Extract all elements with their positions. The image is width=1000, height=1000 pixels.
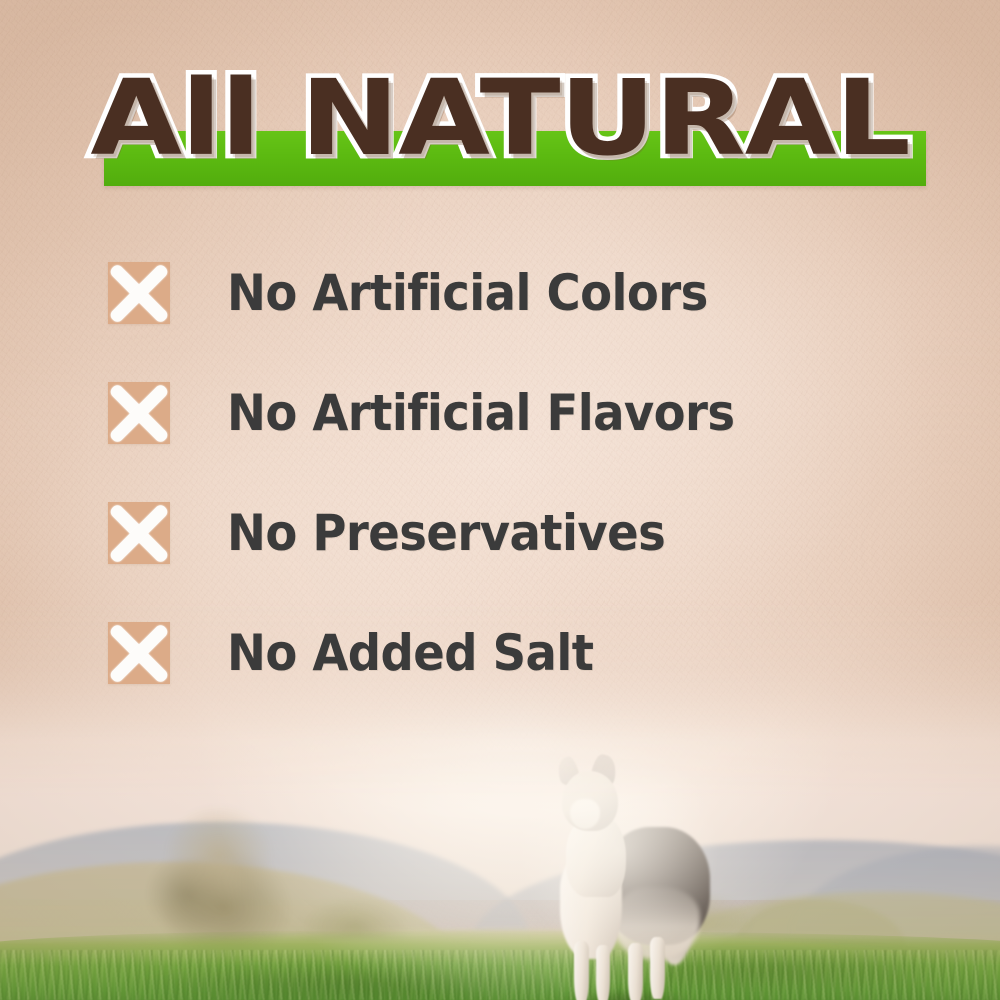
x-mark-icon <box>108 502 170 564</box>
feature-list: No Artificial Colors No Artificial Flavo… <box>108 258 938 688</box>
feature-label: No Added Salt <box>227 625 593 681</box>
feature-label: No Artificial Colors <box>227 265 708 321</box>
feature-item: No Artificial Flavors <box>108 378 938 448</box>
feature-label: No Artificial Flavors <box>227 385 735 441</box>
feature-item: No Added Salt <box>108 618 938 688</box>
feature-label: No Preservatives <box>227 505 665 561</box>
x-mark-icon <box>108 382 170 444</box>
dog-leg-front-left <box>574 941 589 1000</box>
x-mark-icon <box>108 622 170 684</box>
product-feature-panel: All NATURAL No Artificial Colors No Arti… <box>0 0 1000 1000</box>
feature-item: No Artificial Colors <box>108 258 938 328</box>
grass-shadow-left <box>120 960 590 1000</box>
headline-title: All NATURAL <box>0 66 1000 170</box>
dog <box>540 755 730 1000</box>
dog-leg-back-right <box>650 937 665 999</box>
dog-leg-front-right <box>596 945 610 1000</box>
feature-item: No Preservatives <box>108 498 938 568</box>
x-mark-icon <box>108 262 170 324</box>
dog-leg-back-left <box>628 943 643 1000</box>
